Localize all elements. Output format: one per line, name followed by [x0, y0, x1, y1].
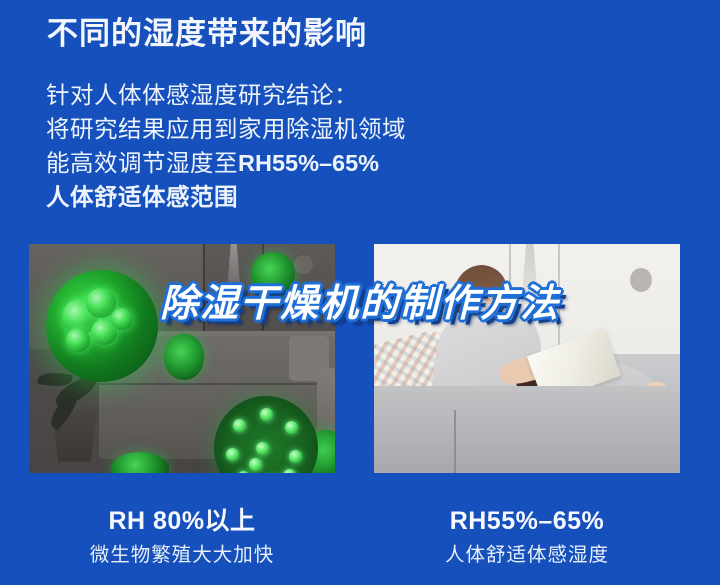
intro-line-3-prefix: 能高效调节湿度至	[46, 150, 238, 176]
caption-left-title: RH 80%以上	[29, 506, 335, 537]
microbe-sphere	[164, 334, 204, 380]
intro-line-4: 人体舒适体感范围	[46, 180, 476, 214]
poster-root: 不同的湿度带来的影响 针对人体体感湿度研究结论： 将研究结果应用到家用除湿机领域…	[0, 0, 720, 585]
caption-left: RH 80%以上 微生物繁殖大大加快	[29, 506, 335, 568]
caption-right-title: RH55%–65%	[374, 506, 680, 537]
intro-line-2: 将研究结果应用到家用除湿机领域	[46, 112, 476, 146]
caption-left-subtitle: 微生物繁殖大大加快	[29, 543, 335, 567]
microbe-cell	[66, 328, 90, 352]
caption-right: RH55%–65% 人体舒适体感湿度	[374, 506, 680, 568]
intro-paragraph: 针对人体体感湿度研究结论： 将研究结果应用到家用除湿机领域 能高效调节湿度至RH…	[46, 78, 476, 214]
page-title: 不同的湿度带来的影响	[47, 16, 367, 52]
intro-line-3: 能高效调节湿度至RH55%–65%	[46, 146, 476, 180]
sofa-light	[374, 386, 680, 473]
caption-right-subtitle: 人体舒适体感湿度	[374, 543, 680, 567]
intro-line-3-value: RH55%–65%	[238, 150, 379, 176]
armrest-dark	[317, 368, 335, 437]
intro-line-1: 针对人体体感湿度研究结论：	[46, 78, 476, 112]
banner-title-overlay: 除湿干燥机的制作方法	[0, 272, 720, 327]
